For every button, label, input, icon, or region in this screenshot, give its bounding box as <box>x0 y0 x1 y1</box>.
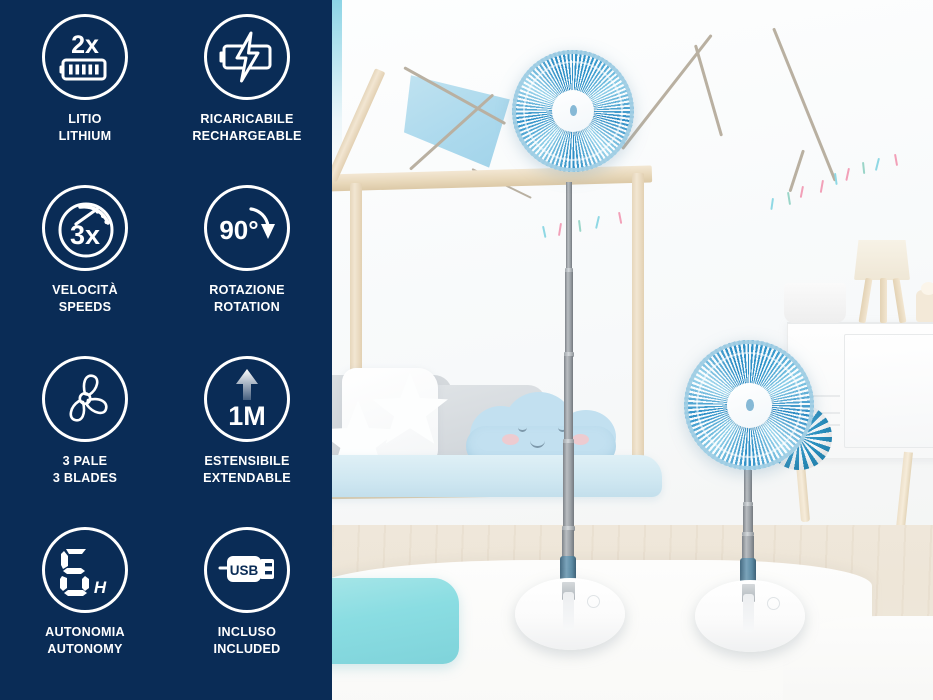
label-it: ROTAZIONE <box>209 282 284 299</box>
speedometer-3x-icon: 3x <box>42 185 128 271</box>
product-photo <box>332 0 933 700</box>
svg-text:1M: 1M <box>228 401 266 431</box>
label-en: SPEEDS <box>52 299 118 316</box>
feature-panel: 2x LITIO LITHIUM <box>0 0 332 700</box>
label-en: INCLUDED <box>213 641 280 658</box>
digital-6h-icon: H <box>42 527 128 613</box>
feature-autonomy-label: AUTONOMIA AUTONOMY <box>45 624 125 657</box>
label-en: LITHIUM <box>59 128 112 145</box>
label-it: LITIO <box>59 111 112 128</box>
fan-pole-segment <box>744 466 752 504</box>
svg-text:90°: 90° <box>219 215 258 245</box>
feature-blades-label: 3 PALE 3 BLADES <box>53 453 117 486</box>
feature-row-1: 2x LITIO LITHIUM <box>0 14 332 185</box>
label-en: EXTENDABLE <box>203 470 291 487</box>
feature-speeds: 3x VELOCITÀ SPEEDS <box>23 185 147 356</box>
battery-lightning-icon <box>204 14 290 100</box>
propeller-3-blades-icon <box>42 356 128 442</box>
svg-text:USB: USB <box>230 563 259 578</box>
feature-row-3: 3 PALE 3 BLADES 1M <box>0 356 332 527</box>
usb-plug-icon: USB <box>204 527 290 613</box>
feature-extendable: 1M ESTENSIBILE EXTENDABLE <box>185 356 309 527</box>
fan-pole-segment <box>742 536 754 560</box>
label-it: VELOCITÀ <box>52 282 118 299</box>
battery-2x-icon: 2x <box>42 14 128 100</box>
label-it: AUTONOMIA <box>45 624 125 641</box>
label-en: AUTONOMY <box>45 641 125 658</box>
label-en: RECHARGEABLE <box>192 128 301 145</box>
infographic-canvas: 2x LITIO LITHIUM <box>0 0 933 700</box>
fan-base-power-button[interactable] <box>767 597 780 610</box>
feature-row-4: H AUTONOMIA AUTONOMY USB <box>0 527 332 698</box>
label-it: 3 PALE <box>53 453 117 470</box>
feature-extendable-label: ESTENSIBILE EXTENDABLE <box>203 453 291 486</box>
feature-rotation: 90° ROTAZIONE ROTATION <box>185 185 309 356</box>
svg-text:H: H <box>94 578 107 597</box>
feature-lithium: 2x LITIO LITHIUM <box>23 14 147 185</box>
fan-pole-segment <box>743 506 753 534</box>
extendable-arrow-up-icon: 1M <box>204 356 290 442</box>
label-en: 3 BLADES <box>53 470 117 487</box>
label-it: INCLUSO <box>213 624 280 641</box>
label-en: ROTATION <box>209 299 284 316</box>
svg-text:3x: 3x <box>70 220 100 250</box>
feature-lithium-label: LITIO LITHIUM <box>59 111 112 144</box>
feature-rechargeable-label: RICARICABILE RECHARGEABLE <box>192 111 301 144</box>
telescopic-fan-retracted <box>332 0 933 700</box>
label-it: RICARICABILE <box>192 111 301 128</box>
feature-rechargeable: RICARICABILE RECHARGEABLE <box>185 14 309 185</box>
feature-row-2: 3x VELOCITÀ SPEEDS 90° ROTAZIO <box>0 185 332 356</box>
feature-autonomy: H AUTONOMIA AUTONOMY <box>23 527 147 698</box>
label-it: ESTENSIBILE <box>203 453 291 470</box>
feature-speeds-label: VELOCITÀ SPEEDS <box>52 282 118 315</box>
feature-included-label: INCLUSO INCLUDED <box>213 624 280 657</box>
fan-hub <box>727 383 772 428</box>
fan-base-slot <box>743 594 754 632</box>
feature-rotation-label: ROTAZIONE ROTATION <box>209 282 284 315</box>
svg-text:2x: 2x <box>71 31 99 59</box>
feature-included: USB INCLUSO INCLUDED <box>185 527 309 698</box>
fan-brand-mark <box>746 399 754 411</box>
feature-blades: 3 PALE 3 BLADES <box>23 356 147 527</box>
rotation-90-degrees-icon: 90° <box>204 185 290 271</box>
